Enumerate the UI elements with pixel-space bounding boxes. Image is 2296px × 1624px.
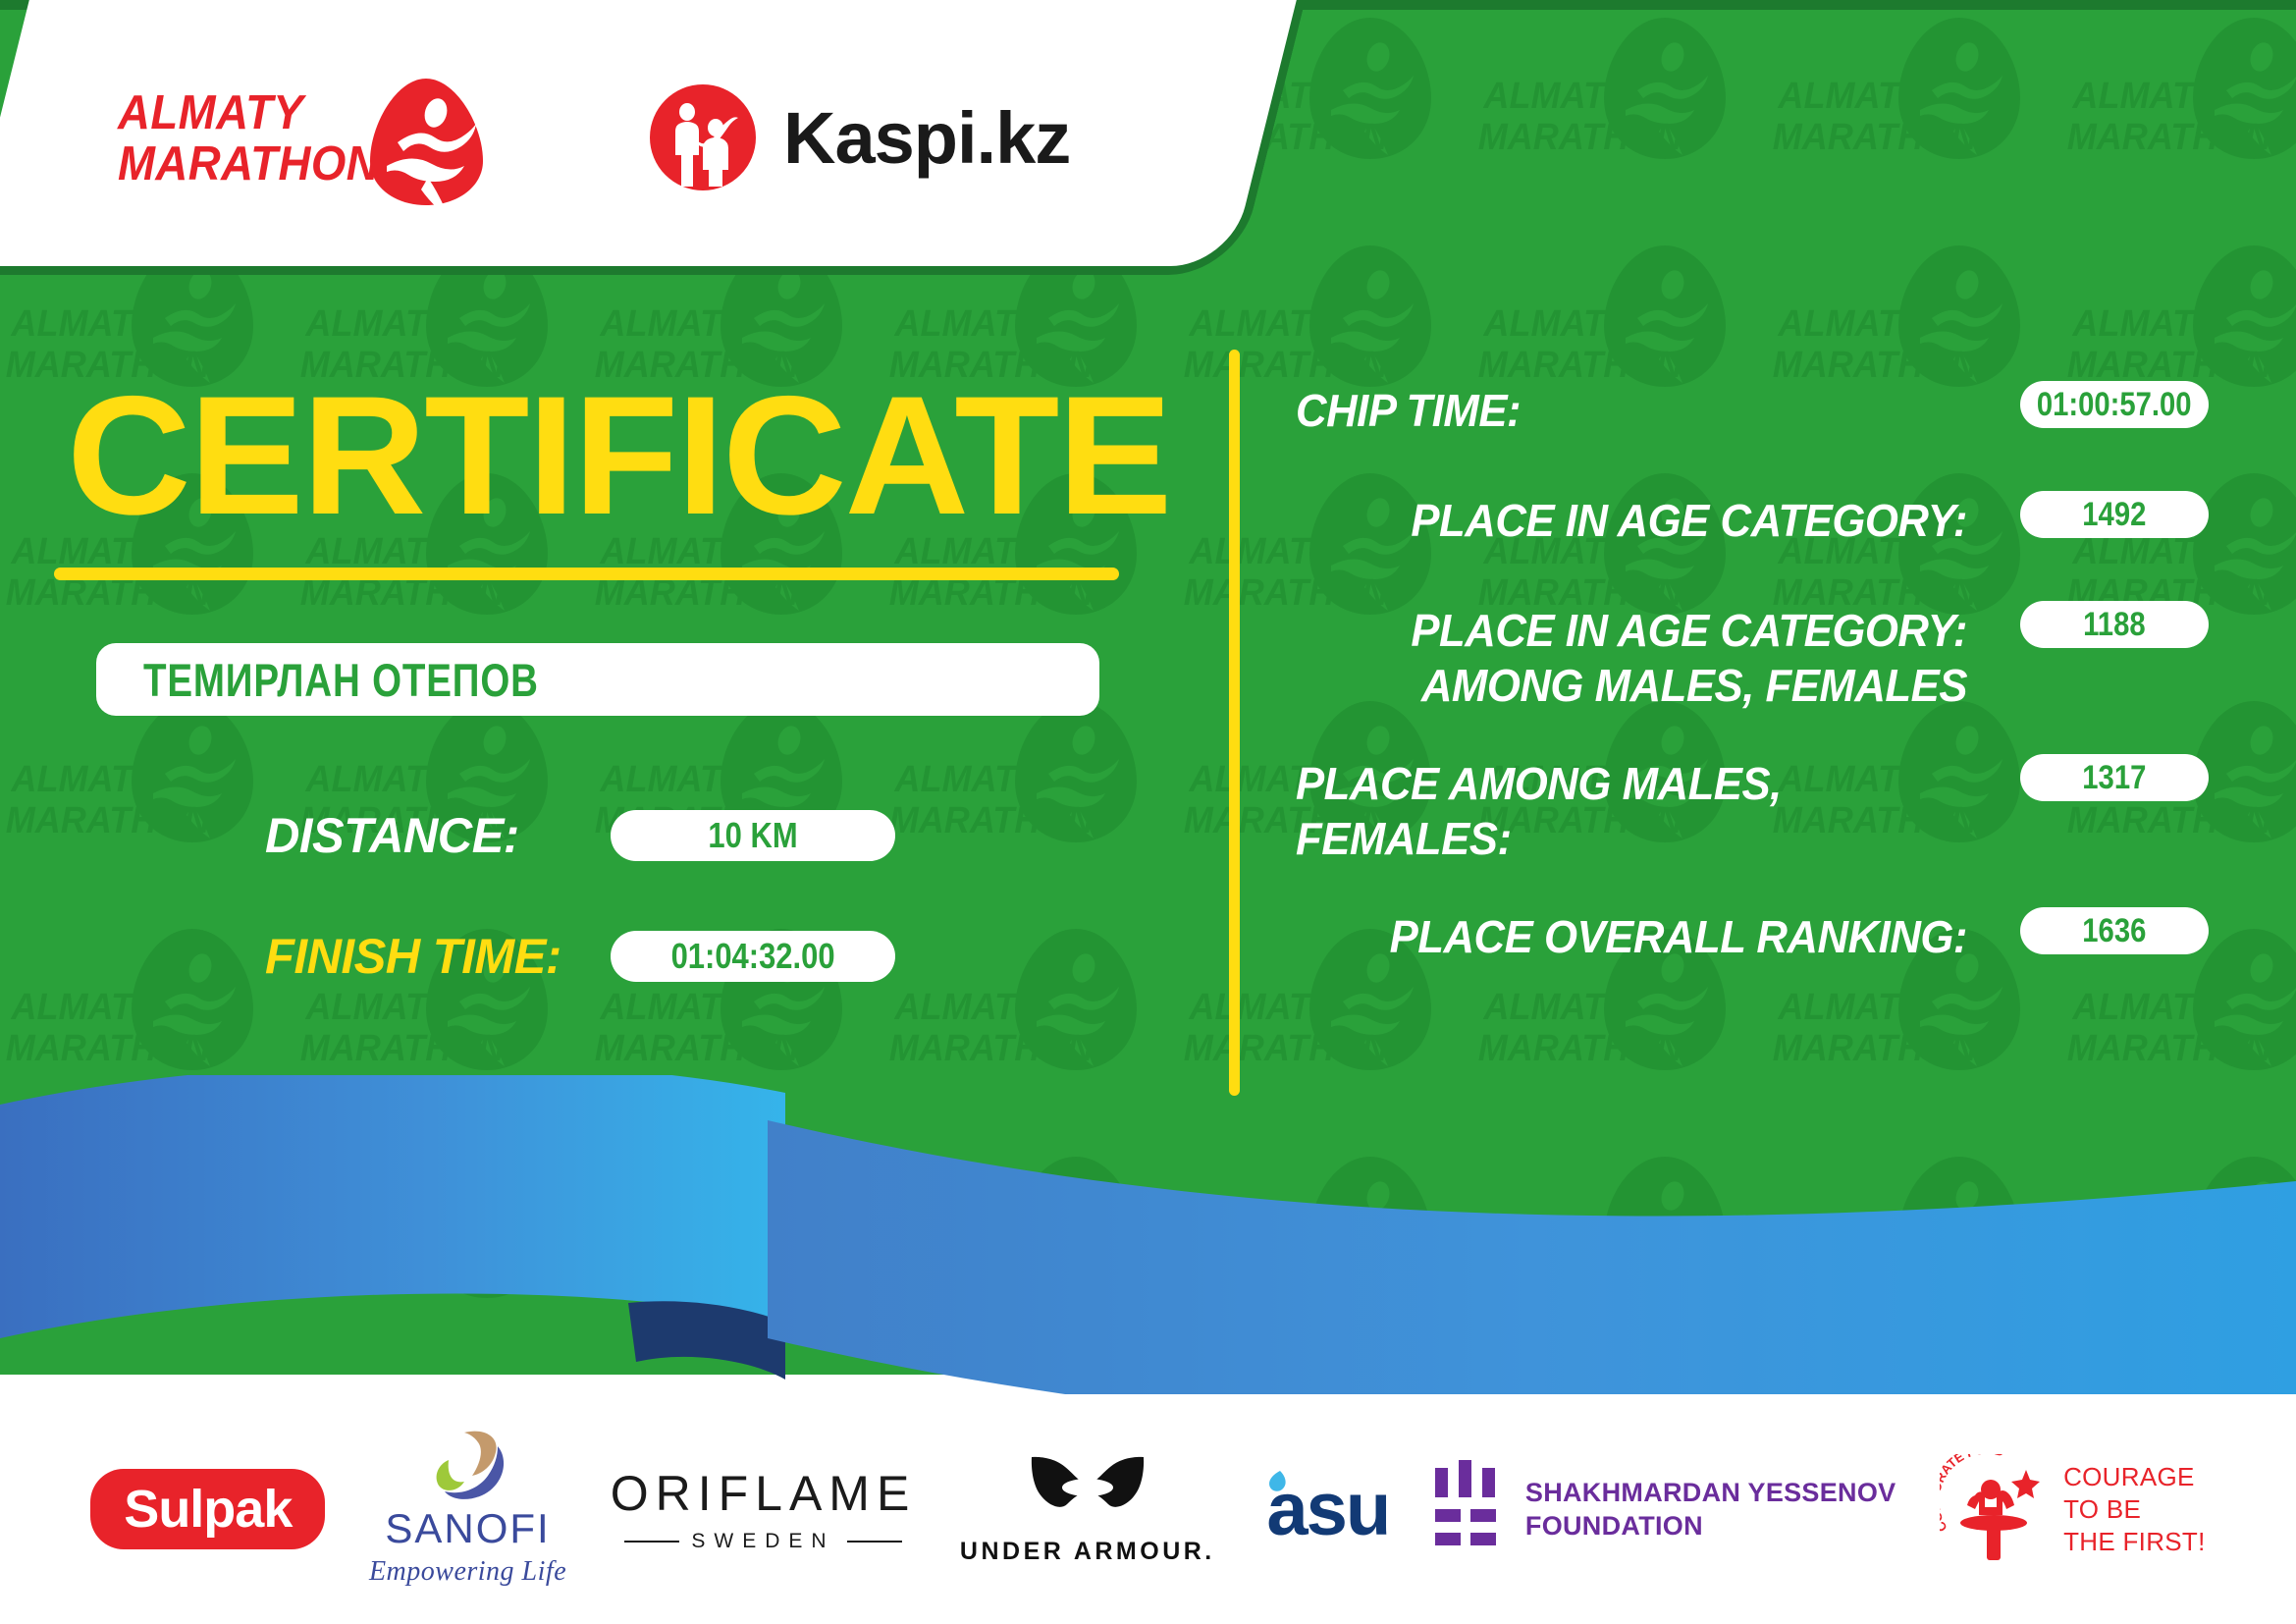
courage-line3: THE FIRST! xyxy=(2063,1526,2206,1558)
sponsor-sanofi: SANOFI Empowering Life xyxy=(369,1431,566,1588)
chip-time-value: 01:00:57.00 xyxy=(2037,386,2192,424)
finish-time-label: FINISH TIME: xyxy=(265,928,604,985)
place-age-category-gender-label: PLACE IN AGE CATEGORY:AMONG MALES, FEMAL… xyxy=(1296,601,1967,713)
chip-time-label: CHIP TIME: xyxy=(1296,381,1967,438)
sulpak-wordmark: Sulpak xyxy=(124,1479,292,1540)
title-underline xyxy=(54,568,1119,580)
ribbon-shape xyxy=(0,1075,2296,1448)
finish-time-value: 01:04:32.00 xyxy=(671,936,835,977)
yessenov-line1: SHAKHMARDAN YESSENOV xyxy=(1525,1476,1896,1509)
kaspi-family-icon xyxy=(648,82,758,192)
place-age-category-value: 1492 xyxy=(2082,496,2146,534)
result-row-place-age-category: PLACE IN AGE CATEGORY: 1492 xyxy=(1296,491,2209,560)
sponsor-strip: Sulpak SANOFI Empowering Life ORIFLAME S… xyxy=(0,1394,2296,1624)
yessenov-mark-icon xyxy=(1433,1460,1502,1558)
marathon-line: MARATHON xyxy=(118,138,379,189)
distance-value-pill: 10 KM xyxy=(611,810,895,861)
place-overall-label: PLACE OVERALL RANKING: xyxy=(1296,907,1967,964)
kaspi-wordmark: Kaspi.kz xyxy=(783,96,1070,180)
place-age-category-value-pill: 1492 xyxy=(2020,491,2209,538)
result-row-place-among-gender: PLACE AMONG MALES,FEMALES: 1317 xyxy=(1296,754,2209,866)
yessenov-line2: FOUNDATION xyxy=(1525,1509,1896,1543)
courage-line2: TO BE xyxy=(2063,1493,2206,1526)
almaty-marathon-logo: ALMATY MARATHON xyxy=(118,64,471,211)
almaty-line: ALMATY xyxy=(118,87,379,138)
asu-wordmark: asu xyxy=(1266,1467,1389,1552)
sanofi-swoosh-icon xyxy=(421,1431,515,1503)
oriflame-tagline: SWEDEN xyxy=(691,1530,834,1553)
place-overall-value-pill: 1636 xyxy=(2020,907,2209,954)
place-among-gender-value-pill: 1317 xyxy=(2020,754,2209,801)
sanofi-tagline: Empowering Life xyxy=(369,1556,566,1588)
place-among-gender-value: 1317 xyxy=(2082,759,2146,797)
event-ribbon: APRIL 21 st RUN FOR SENSATIONS xyxy=(0,1075,2296,1448)
result-row-place-age-category-gender: PLACE IN AGE CATEGORY:AMONG MALES, FEMAL… xyxy=(1296,601,2209,713)
place-age-category-gender-value: 1188 xyxy=(2083,606,2145,644)
place-overall-value: 1636 xyxy=(2082,912,2146,950)
oriflame-rule-left xyxy=(624,1541,679,1543)
yessenov-wordmark: SHAKHMARDAN YESSENOV FOUNDATION xyxy=(1525,1476,1896,1543)
under-armour-wordmark: UNDER ARMOUR. xyxy=(960,1538,1215,1566)
result-row-chip-time: CHIP TIME: 01:00:57.00 xyxy=(1296,381,2209,450)
place-age-category-label: PLACE IN AGE CATEGORY: xyxy=(1296,491,1967,548)
oriflame-wordmark: ORIFLAME xyxy=(611,1465,917,1522)
distance-value: 10 KM xyxy=(708,815,797,856)
column-divider xyxy=(1229,350,1240,1096)
sponsor-courage-fund: CORPORATE FUND COURAGE TO BE THE FIRST! xyxy=(1940,1454,2206,1564)
header-content: ALMATY MARATHON xyxy=(0,0,1237,275)
place-age-category-gender-value-pill: 1188 xyxy=(2020,601,2209,648)
oriflame-sub: SWEDEN xyxy=(624,1530,901,1553)
results-details: CHIP TIME: 01:00:57.00 PLACE IN AGE CATE… xyxy=(1296,381,2209,1017)
left-details: DISTANCE: 10 KM FINISH TIME: 01:04:32.00 xyxy=(265,797,982,1039)
sponsor-sulpak: Sulpak xyxy=(90,1469,325,1549)
detail-row-distance: DISTANCE: 10 KM xyxy=(265,797,982,874)
courage-fund-wordmark: COURAGE TO BE THE FIRST! xyxy=(2063,1461,2206,1558)
sponsor-yessenov-foundation: SHAKHMARDAN YESSENOV FOUNDATION xyxy=(1433,1460,1896,1558)
oriflame-rule-right xyxy=(847,1541,902,1543)
page-title: CERTIFICATE xyxy=(67,371,1170,540)
sanofi-wordmark: SANOFI xyxy=(385,1505,550,1552)
kaspi-logo: Kaspi.kz xyxy=(648,82,1070,192)
detail-row-finish-time: FINISH TIME: 01:04:32.00 xyxy=(265,918,982,995)
place-among-gender-label: PLACE AMONG MALES,FEMALES: xyxy=(1296,754,1967,866)
participant-name-field: ТЕМИРЛАН ОТЕПОВ xyxy=(96,643,1099,716)
courage-fund-icon: CORPORATE FUND xyxy=(1940,1454,2050,1564)
almaty-marathon-wordmark: ALMATY MARATHON xyxy=(118,87,379,189)
result-row-place-overall: PLACE OVERALL RANKING: 1636 xyxy=(1296,907,2209,976)
runner-drop-icon xyxy=(365,76,488,208)
sponsor-under-armour: UNDER ARMOUR. xyxy=(960,1453,1215,1566)
certificate-page: ALMATY MARATHON ALMATY MARATHON xyxy=(0,0,2296,1624)
distance-label: DISTANCE: xyxy=(265,807,604,864)
participant-name-value: ТЕМИРЛАН ОТЕПОВ xyxy=(143,653,539,707)
finish-time-value-pill: 01:04:32.00 xyxy=(611,931,895,982)
chip-time-value-pill: 01:00:57.00 xyxy=(2020,381,2209,428)
courage-line1: COURAGE xyxy=(2063,1461,2206,1493)
sponsor-asu: asu xyxy=(1258,1467,1389,1552)
under-armour-icon xyxy=(1024,1453,1151,1530)
sponsor-oriflame: ORIFLAME SWEDEN xyxy=(611,1465,917,1553)
